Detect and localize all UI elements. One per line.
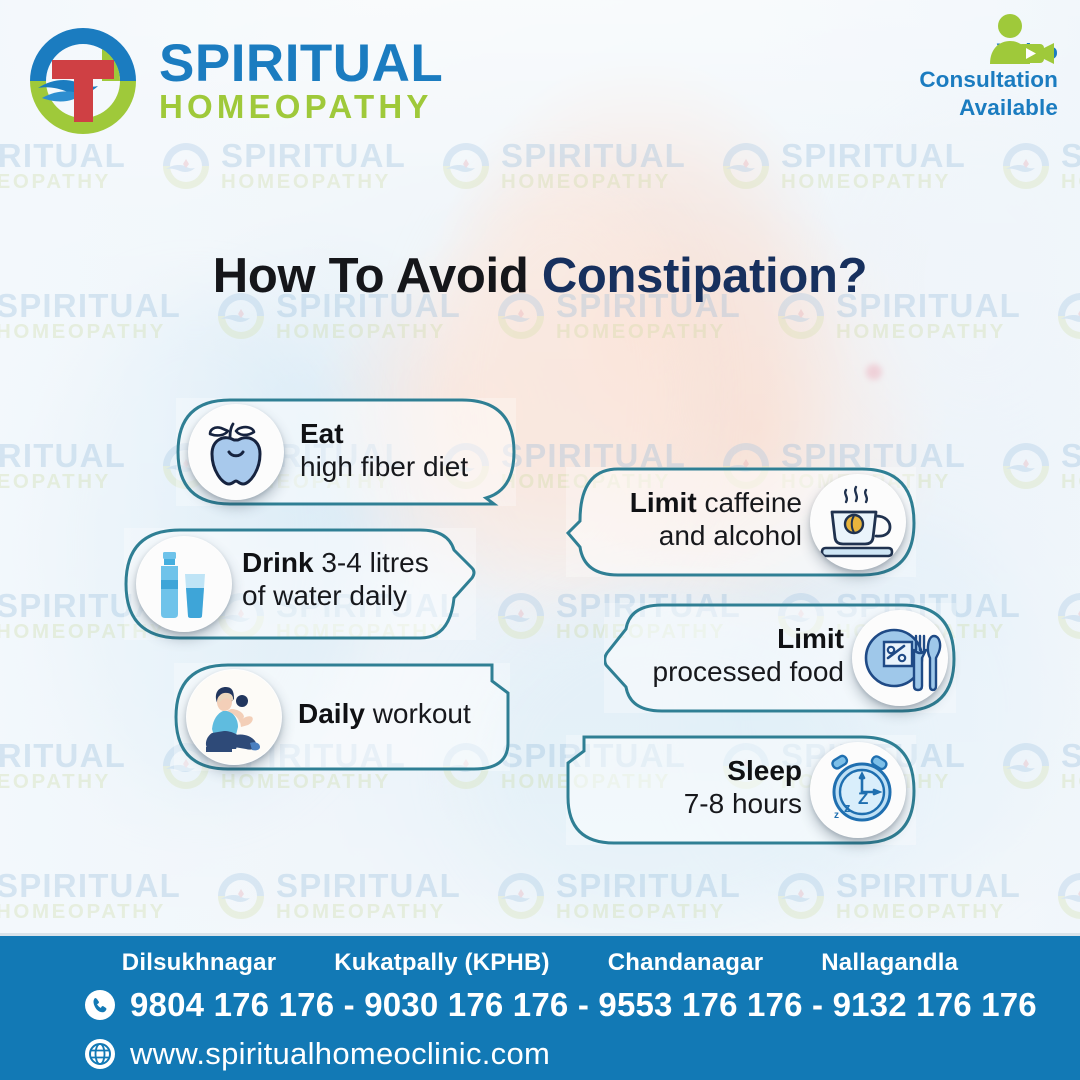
tip-strong-processed: Limit (777, 623, 844, 654)
tip-card-limit-processed-food[interactable]: Limit processed food (604, 603, 956, 713)
svg-text:z: z (844, 800, 851, 815)
tip-text-sleep: Sleep 7-8 hours (684, 755, 802, 821)
tip-text-caffeine: Limit caffeine and alcohol (630, 487, 802, 553)
footer-location-3: Nallagandla (821, 949, 958, 977)
video-badge-line2: Consultation (919, 66, 1058, 94)
footer-locations: DilsukhnagarKukatpally (KPHB)Chandanagar… (0, 949, 1080, 977)
tip-light-sleep: 7-8 hours (684, 788, 802, 819)
brand-logo: SPIRITUAL HOMEOPATHY (24, 22, 443, 140)
tip-strong-drink: Drink (242, 547, 321, 578)
spiritual-homeopathy-logo-icon (24, 22, 142, 140)
tip-light-drink-b: of water daily (242, 580, 407, 611)
water-bottle-icon (136, 536, 232, 632)
tip-card-daily-workout[interactable]: Daily workout (174, 663, 510, 771)
tip-card-drink[interactable]: Drink 3-4 litres of water daily (124, 528, 476, 640)
footer-bar: DilsukhnagarKukatpally (KPHB)Chandanagar… (0, 933, 1080, 1080)
video-consultation-badge[interactable]: Video Consultation Available (919, 38, 1058, 122)
tip-text-daily: Daily workout (298, 698, 471, 731)
footer-website-row[interactable]: www.spiritualhomeoclinic.com (84, 1036, 550, 1072)
tip-card-limit-caffeine[interactable]: Limit caffeine and alcohol (566, 467, 916, 577)
tip-strong-eat: Eat (300, 418, 344, 449)
video-badge-line3: Available (919, 94, 1058, 122)
page-title: How To Avoid Constipation? (0, 248, 1080, 304)
apple-icon (188, 404, 284, 500)
footer-location-2: Chandanagar (608, 949, 764, 977)
coffee-cup-icon (810, 474, 906, 570)
footer-website: www.spiritualhomeoclinic.com (130, 1036, 550, 1072)
brand-name-line1: SPIRITUAL (159, 40, 443, 89)
phone-icon (84, 989, 116, 1021)
poster-canvas: SPIRITUAL HOMEOPATHY SPIRITUAL HOMEOPATH… (0, 0, 1080, 1080)
tip-light-daily: workout (373, 698, 471, 729)
tip-strong-sleep: Sleep (727, 755, 802, 786)
svg-text:Z: Z (858, 789, 868, 808)
tip-light-drink-a: 3-4 litres (321, 547, 428, 578)
tip-strong-caffeine: Limit (630, 487, 705, 518)
brand-name-line2: HOMEOPATHY (159, 92, 443, 122)
headline-plain: How To Avoid (213, 249, 542, 303)
alarm-clock-sleep-icon: Z z z (810, 742, 906, 838)
tip-light-caffeine-a: caffeine (704, 487, 802, 518)
tip-strong-daily: Daily (298, 698, 373, 729)
tip-text-drink: Drink 3-4 litres of water daily (242, 547, 429, 613)
tip-card-sleep[interactable]: Z z z Sleep 7-8 hours (566, 735, 916, 845)
footer-phone-numbers: 9804 176 176 - 9030 176 176 - 9553 176 1… (130, 986, 1037, 1024)
tip-text-processed: Limit processed food (653, 623, 844, 689)
tip-text-eat: Eat high fiber diet (300, 418, 468, 484)
tip-light-processed: processed food (653, 656, 844, 687)
tip-light-eat: high fiber diet (300, 451, 468, 482)
headline-accent: Constipation? (542, 249, 867, 303)
svg-text:z: z (834, 810, 839, 821)
video-consultation-icon (984, 10, 1056, 70)
globe-icon (84, 1038, 116, 1070)
yoga-workout-icon (186, 669, 282, 765)
processed-food-plate-icon (852, 610, 948, 706)
footer-phone-row[interactable]: 9804 176 176 - 9030 176 176 - 9553 176 1… (84, 986, 1037, 1024)
tip-card-eat[interactable]: Eat high fiber diet (176, 398, 516, 506)
footer-location-1: Kukatpally (KPHB) (334, 949, 549, 977)
footer-location-0: Dilsukhnagar (122, 949, 276, 977)
tip-light-caffeine-b: and alcohol (659, 520, 802, 551)
